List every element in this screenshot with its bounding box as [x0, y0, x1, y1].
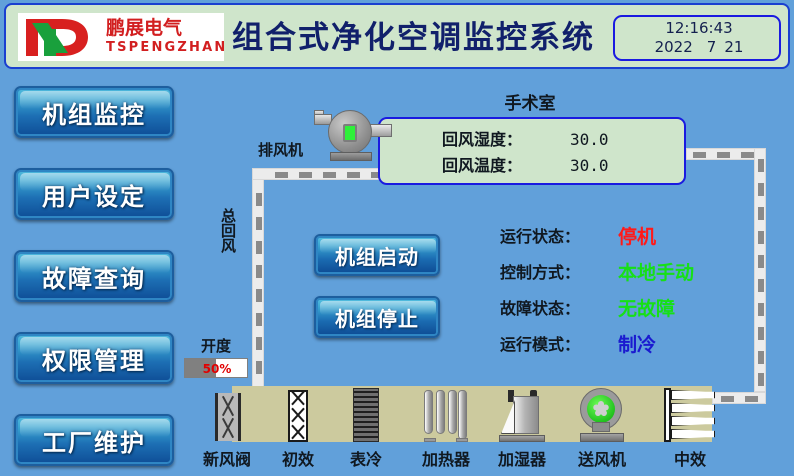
sidebar-item-label: 机组监控	[16, 88, 172, 136]
clock-day: 21	[724, 38, 743, 56]
damper-opening-label: 开度	[188, 336, 244, 356]
humidifier-icon[interactable]	[497, 390, 547, 442]
status-row-fault-state: 故障状态： 无故障	[500, 293, 730, 325]
run-state-label: 运行状态：	[500, 221, 580, 253]
unit-start-label: 机组启动	[316, 236, 438, 274]
logo-mark-icon	[22, 15, 100, 59]
clock-time: 12:16:43	[615, 19, 783, 38]
damper-opening-bar[interactable]: 50%	[184, 358, 248, 378]
fresh-air-damper-icon[interactable]	[210, 393, 244, 441]
equipment-label-humidifier: 加湿器	[476, 449, 568, 471]
equipment-label-cooling-coil: 表冷	[320, 449, 412, 471]
clock-date: 2022721	[615, 38, 783, 57]
unit-start-button[interactable]: 机组启动	[314, 234, 440, 276]
logo-text-cn: 鹏展电气	[106, 16, 222, 40]
room-humidity-label: 回风湿度：	[442, 127, 522, 153]
clock-widget: 12:16:43 2022721	[613, 15, 781, 61]
clock-year: 2022	[655, 38, 693, 56]
damper-opening-value: 50%	[185, 359, 248, 378]
sidebar-item-fault-query[interactable]: 故障查询	[14, 250, 174, 302]
room-row-humidity: 回风湿度： 30.0	[380, 127, 688, 153]
room-temperature-value: 30.0	[570, 153, 609, 179]
duct-ahu-connector	[712, 392, 766, 404]
room-row-temperature: 回风温度： 30.0	[380, 153, 688, 179]
sidebar-item-user-settings[interactable]: 用户设定	[14, 168, 174, 220]
control-mode-label: 控制方式：	[500, 257, 580, 289]
sidebar-item-label: 权限管理	[16, 334, 172, 382]
room-readout-panel: 回风湿度： 30.0 回风温度： 30.0	[378, 117, 686, 185]
hmi-screen: 鹏展电气 TSPENGZHAN 组合式净化空调监控系统 12:16:43 202…	[0, 0, 794, 476]
cooling-coil-icon[interactable]	[353, 388, 379, 442]
status-row-control-mode: 控制方式： 本地手动	[500, 257, 730, 289]
exhaust-fan-status-indicator	[343, 124, 357, 142]
unit-stop-label: 机组停止	[316, 298, 438, 336]
run-state-value: 停机	[618, 221, 656, 253]
sidebar-item-label: 工厂维护	[16, 416, 172, 464]
return-air-label: 总回风	[218, 208, 238, 257]
medium-filter-icon[interactable]	[664, 388, 716, 442]
room-temperature-label: 回风温度：	[442, 153, 522, 179]
run-mode-label: 运行模式：	[500, 329, 580, 361]
sidebar-item-label: 故障查询	[16, 252, 172, 300]
company-logo: 鹏展电气 TSPENGZHAN	[18, 13, 224, 61]
control-mode-value: 本地手动	[618, 257, 694, 289]
room-title: 手术室	[470, 93, 590, 115]
equipment-label-supply-fan: 送风机	[556, 449, 648, 471]
fault-state-value: 无故障	[618, 293, 675, 325]
supply-fan-icon[interactable]	[574, 388, 630, 442]
fault-state-label: 故障状态：	[500, 293, 580, 325]
clock-month: 7	[707, 38, 717, 56]
room-humidity-value: 30.0	[570, 127, 609, 153]
run-mode-value: 制冷	[618, 329, 656, 361]
equipment-label-medium-filter: 中效	[644, 449, 736, 471]
exhaust-fan-icon[interactable]	[310, 108, 390, 164]
sidebar-item-unit-monitor[interactable]: 机组监控	[14, 86, 174, 138]
sidebar-item-permission-management[interactable]: 权限管理	[14, 332, 174, 384]
heater-icon[interactable]	[424, 390, 468, 442]
unit-stop-button[interactable]: 机组停止	[314, 296, 440, 338]
duct-supply-vertical	[754, 148, 766, 392]
status-row-run-mode: 运行模式： 制冷	[500, 329, 730, 361]
duct-return-horizontal	[252, 168, 392, 180]
logo-text-en: TSPENGZHAN	[106, 39, 224, 57]
sidebar-item-factory-maintenance[interactable]: 工厂维护	[14, 414, 174, 466]
sidebar-item-label: 用户设定	[16, 170, 172, 218]
duct-return-vertical	[252, 168, 264, 392]
header-bar: 鹏展电气 TSPENGZHAN 组合式净化空调监控系统 12:16:43 202…	[4, 3, 790, 69]
primary-filter-icon[interactable]	[288, 390, 308, 442]
page-title: 组合式净化空调监控系统	[232, 16, 592, 60]
status-row-run-state: 运行状态： 停机	[500, 221, 730, 253]
